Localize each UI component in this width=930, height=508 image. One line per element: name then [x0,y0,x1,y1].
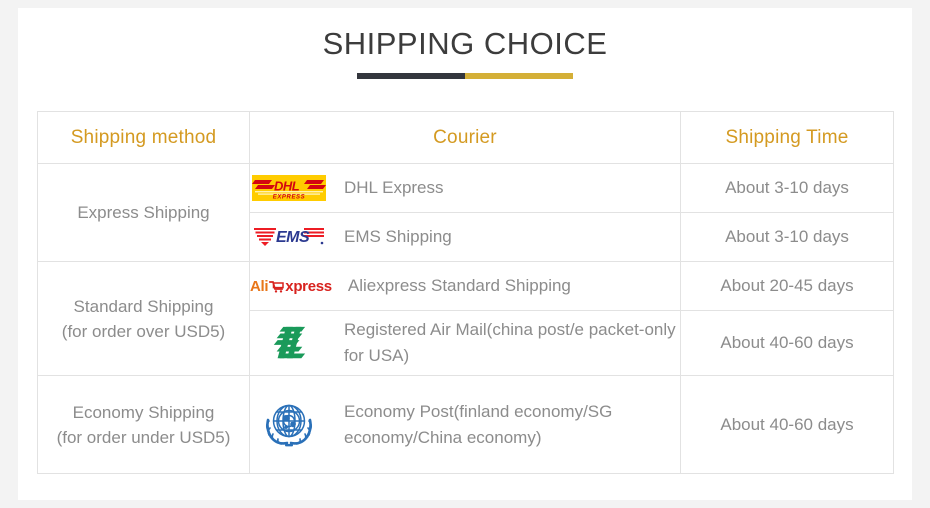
cell-time: About 40-60 days [681,311,894,376]
cell-courier-dhl: DHL EXPRESS [250,164,681,213]
courier-label: DHL Express [344,175,444,201]
content-card: SHIPPING CHOICE Shipping method Courier … [18,8,912,500]
courier-label: Registered Air Mail(china post/e packet-… [344,317,680,369]
cell-time: About 20-45 days [681,262,894,311]
aliexpress-logo: Ali xpress [250,278,332,295]
china-post-logo [250,324,328,362]
cell-time: About 3-10 days [681,164,894,213]
cell-courier-ems: EMS EMS Shipping [250,213,681,262]
cell-method-express: Express Shipping [38,164,250,262]
page-title: SHIPPING CHOICE [18,24,912,64]
aliexpress-logo-xpress: xpress [285,278,332,295]
table-row: Standard Shipping (for order over USD5) … [38,262,894,311]
shipping-table: Shipping method Courier Shipping Time Ex… [37,111,894,474]
cell-courier-aliexpress: Ali xpress Ali [250,262,681,311]
method-note: (for order over USD5) [38,319,249,344]
cell-method-economy: Economy Shipping (for order under USD5) [38,376,250,474]
title-block: SHIPPING CHOICE [18,24,912,79]
title-underline-gold [465,73,573,79]
method-note: (for order under USD5) [38,425,249,450]
header-shipping-time: Shipping Time [681,112,894,164]
table-row: Economy Shipping (for order under USD5) [38,376,894,474]
cell-courier-china-post: Registered Air Mail(china post/e packet-… [250,311,681,376]
method-name: Standard Shipping [38,294,249,319]
title-underline-dark [357,73,465,79]
cell-courier-economy-post: Economy Post(finland economy/SG economy/… [250,376,681,474]
united-nations-logo [250,399,328,451]
dhl-logo: DHL EXPRESS [250,175,328,201]
method-name: Economy Shipping [38,400,249,425]
title-underline [357,73,573,79]
svg-text:EXPRESS: EXPRESS [273,195,306,201]
table-row: Express Shipping DHL [38,164,894,213]
cell-method-standard: Standard Shipping (for order over USD5) [38,262,250,376]
courier-label: Economy Post(finland economy/SG economy/… [344,399,680,451]
table-body: Express Shipping DHL [38,164,894,474]
header-shipping-method: Shipping method [38,112,250,164]
courier-label: EMS Shipping [344,224,452,250]
page-root: SHIPPING CHOICE Shipping method Courier … [0,0,930,508]
ems-logo: EMS [250,225,328,249]
cell-time: About 40-60 days [681,376,894,474]
courier-label: Aliexpress Standard Shipping [348,273,571,299]
header-courier: Courier [250,112,681,164]
table-header: Shipping method Courier Shipping Time [38,112,894,164]
cell-time: About 3-10 days [681,213,894,262]
method-name: Express Shipping [38,200,249,225]
aliexpress-logo-ali: Ali [250,278,268,295]
svg-text:EMS: EMS [276,229,310,246]
table-header-row: Shipping method Courier Shipping Time [38,112,894,164]
